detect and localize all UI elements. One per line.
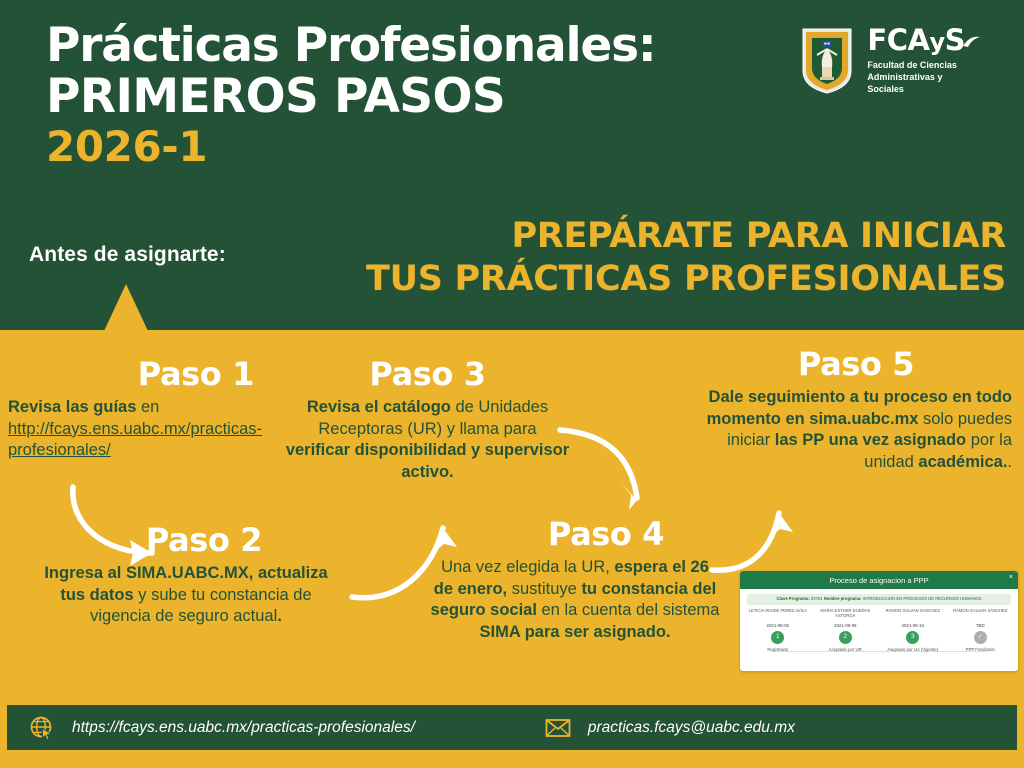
step-1-title: Paso 1 [8, 358, 260, 392]
step-2-body: Ingresa al SIMA.UABC.MX, actualiza tus d… [30, 563, 342, 629]
sima-progress-step: RAMON GALVAN SANCHEZ2021-08-163Asignado … [879, 608, 947, 653]
headline-line-1: PREPÁRATE PARA INICIAR [366, 215, 1006, 258]
arrow-4-to-5-path [712, 513, 779, 570]
footer-website-text: https://fcays.ens.uabc.mx/practicas-prof… [72, 719, 415, 737]
fcays-fc: FC [867, 26, 907, 55]
step-5-body: Dale seguimiento a tu proceso en todo mo… [700, 387, 1012, 475]
step-card-2: Paso 2 Ingresa al SIMA.UABC.MX, actualiz… [30, 524, 342, 628]
title-line-2: PRIMEROS PASOS [46, 73, 655, 120]
sima-step-date: 2021-08-16 [879, 623, 947, 628]
step-3-title: Paso 3 [285, 358, 570, 392]
sima-step-marker: 1 [771, 631, 784, 644]
page-title: Prácticas Profesionales: PRIMEROS PASOS … [46, 22, 655, 168]
headline-line-2: TUS PRÁCTICAS PROFESIONALES [366, 258, 1006, 301]
step-1-body: Revisa las guías en http://fcays.ens.uab… [8, 397, 260, 463]
sima-name-label: Nombre programa: [824, 596, 862, 601]
step-card-3: Paso 3 Revisa el catálogo de Unidades Re… [285, 358, 570, 484]
step-card-4: Paso 4 Una vez elegida la UR, espera el … [430, 518, 720, 644]
fcays-y: y [929, 30, 944, 54]
pointer-triangle [104, 284, 148, 331]
step-card-1: Paso 1 Revisa las guías en http://fcays.… [8, 358, 260, 462]
sima-step-person: LETICIA IRAIDE PEREZ AVILA [744, 608, 812, 620]
sima-progress-step: MARIA ESTHER DUEÑAS ASTORGA2021-08-092Ac… [812, 608, 880, 653]
step-3-body: Revisa el catálogo de Unidades Receptora… [285, 397, 570, 485]
step-5-title: Paso 5 [700, 348, 1012, 382]
step-1-link[interactable]: http://fcays.ens.uabc.mx/practicas-profe… [8, 420, 262, 460]
fcays-swoosh-icon [962, 34, 982, 50]
sima-key-value: 03751 [811, 596, 823, 601]
sima-step-status: PPP Finalizado [947, 647, 1015, 653]
arrow-3-to-4-head [621, 483, 637, 510]
sima-program-note: Clave Programa: 03751 Nombre programa: I… [747, 594, 1011, 605]
faculty-name: Facultad de Ciencias Administrativas y S… [867, 60, 975, 96]
sima-step-status: Registrado [744, 647, 812, 653]
title-line-3-period: 2026-1 [46, 126, 655, 168]
sima-step-person: RAMON GALVAN SANCHEZ [879, 608, 947, 620]
fcays-acronym: FCAyS [867, 26, 982, 55]
antes-de-asignarte-label: Antes de asignarte: [29, 243, 226, 267]
sima-step-status: Asignado por UA (Vigente) [879, 647, 947, 653]
uabc-shield-icon [801, 27, 853, 95]
step-card-5: Paso 5 Dale seguimiento a tu proceso en … [700, 348, 1012, 474]
sima-step-marker: 2 [839, 631, 852, 644]
infographic-poster: Prácticas Profesionales: PRIMEROS PASOS … [0, 0, 1024, 768]
sima-step-date: 2021-08-09 [812, 623, 880, 628]
sima-window-titlebar: Proceso de asignacion a PPP × [740, 571, 1018, 589]
title-line-1: Prácticas Profesionales: [46, 22, 655, 69]
sima-progress-step: LETICIA IRAIDE PEREZ AVILA2021-08-051Reg… [744, 608, 812, 653]
sima-key-label: Clave Programa: [776, 596, 809, 601]
arrow-3-to-4-path [560, 430, 637, 498]
fcays-a: A [908, 26, 930, 55]
sima-screenshot-image: Proceso de asignacion a PPP × Clave Prog… [740, 571, 1018, 671]
sima-step-marker: 3 [906, 631, 919, 644]
fcays-logotype: FCAyS Facultad de Ciencias Administrativ… [867, 26, 982, 96]
footer-website[interactable]: https://fcays.ens.uabc.mx/practicas-prof… [29, 715, 415, 741]
sima-progress-track: LETICIA IRAIDE PEREZ AVILA2021-08-051Reg… [740, 608, 1018, 653]
step-4-body: Una vez elegida la UR, espera el 26 de e… [430, 557, 720, 645]
step-4-title: Paso 4 [430, 518, 720, 552]
arrow-4-to-5-head [770, 513, 793, 537]
sima-step-date: TBD [947, 623, 1015, 628]
footer-email[interactable]: practicas.fcays@uabc.edu.mx [545, 717, 795, 739]
sima-window-title: Proceso de asignacion a PPP [829, 576, 928, 585]
institution-logo: FCAyS Facultad de Ciencias Administrativ… [801, 26, 982, 96]
sima-progress-step: RAMON GALVAN SANCHEZTBD✓PPP Finalizado [947, 608, 1015, 653]
headline: PREPÁRATE PARA INICIAR TUS PRÁCTICAS PRO… [366, 215, 1006, 300]
step-2-title: Paso 2 [30, 524, 342, 558]
sima-name-value: INTRODUCCION EN PROCESOS DE RECURSOS HUM… [863, 596, 982, 601]
sima-step-person: RAMON GALVAN SANCHEZ [947, 608, 1015, 620]
sima-step-marker: ✓ [974, 631, 987, 644]
footer-email-text: practicas.fcays@uabc.edu.mx [588, 719, 795, 737]
close-icon[interactable]: × [1009, 574, 1013, 581]
footer-contact-bar: https://fcays.ens.uabc.mx/practicas-prof… [7, 705, 1017, 750]
sima-step-person: MARIA ESTHER DUEÑAS ASTORGA [812, 608, 880, 620]
globe-cursor-icon [29, 715, 55, 741]
sima-step-date: 2021-08-05 [744, 623, 812, 628]
sima-step-status: Aceptado por UR [812, 647, 880, 653]
envelope-icon [545, 717, 571, 739]
